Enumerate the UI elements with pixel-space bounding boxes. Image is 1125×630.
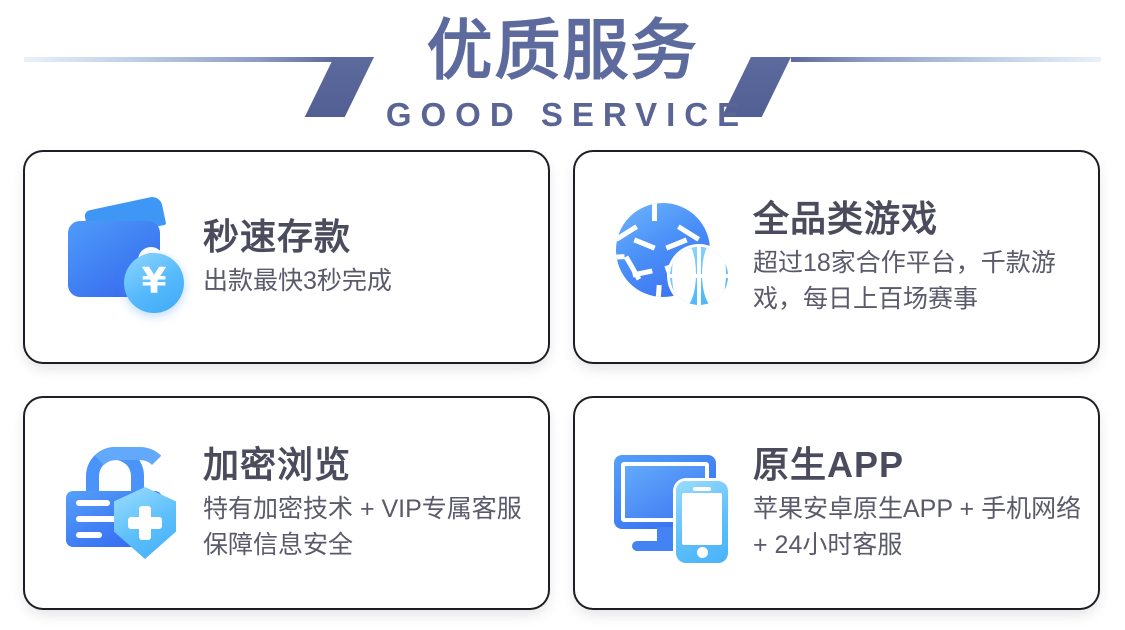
- card-title: 加密浏览: [203, 443, 534, 487]
- card-description: 特有加密技术 + VIP专属客服保障信息安全: [203, 491, 534, 563]
- card-text: 全品类游戏 超过18家合作平台，千款游戏，每日上百场赛事: [749, 197, 1098, 317]
- section-header: 优质服务 GOOD SERVICE: [0, 0, 1125, 140]
- card-title: 原生APP: [753, 443, 1084, 487]
- feature-card-deposit[interactable]: ¥ 秒速存款 出款最快3秒完成: [25, 152, 548, 362]
- basketball-icon: [670, 247, 728, 305]
- card-text: 原生APP 苹果安卓原生APP + 手机网络 + 24小时客服: [749, 443, 1098, 563]
- phone-screen-shape: [682, 493, 722, 545]
- yen-symbol: ¥: [141, 264, 166, 300]
- monitor-phone-icon: [614, 443, 734, 563]
- phone-speaker-shape: [693, 487, 711, 491]
- card-title: 全品类游戏: [753, 197, 1084, 241]
- card-text: 秒速存款 出款最快3秒完成: [199, 215, 548, 299]
- icon-container: [599, 428, 749, 578]
- wallet-coin-icon: ¥: [64, 197, 184, 317]
- phone-icon: [676, 481, 728, 563]
- card-text: 加密浏览 特有加密技术 + VIP专属客服保障信息安全: [199, 443, 548, 563]
- yen-coin-icon: ¥: [124, 253, 184, 313]
- card-description: 出款最快3秒完成: [203, 263, 533, 299]
- card-title: 秒速存款: [203, 215, 534, 259]
- lock-shield-icon: [64, 443, 184, 563]
- icon-container: [599, 182, 749, 332]
- cross-icon: [128, 506, 162, 540]
- feature-card-games[interactable]: 全品类游戏 超过18家合作平台，千款游戏，每日上百场赛事: [575, 152, 1098, 362]
- soccer-basketball-icon: [614, 197, 734, 317]
- shield-icon: [114, 487, 176, 559]
- card-description: 苹果安卓原生APP + 手机网络 + 24小时客服: [753, 491, 1084, 563]
- phone-home-button-shape: [697, 547, 708, 558]
- icon-container: ¥: [49, 182, 199, 332]
- feature-card-grid: ¥ 秒速存款 出款最快3秒完成: [25, 152, 1098, 608]
- page-subtitle: GOOD SERVICE: [0, 96, 1125, 134]
- icon-container: [49, 428, 199, 578]
- good-service-panel: 优质服务 GOOD SERVICE ¥ 秒速存款 出款最快3秒完成: [0, 0, 1125, 630]
- card-description: 超过18家合作平台，千款游戏，每日上百场赛事: [753, 245, 1084, 317]
- feature-card-encryption[interactable]: 加密浏览 特有加密技术 + VIP专属客服保障信息安全: [25, 398, 548, 608]
- feature-card-native-app[interactable]: 原生APP 苹果安卓原生APP + 手机网络 + 24小时客服: [575, 398, 1098, 608]
- page-title: 优质服务: [0, 14, 1125, 86]
